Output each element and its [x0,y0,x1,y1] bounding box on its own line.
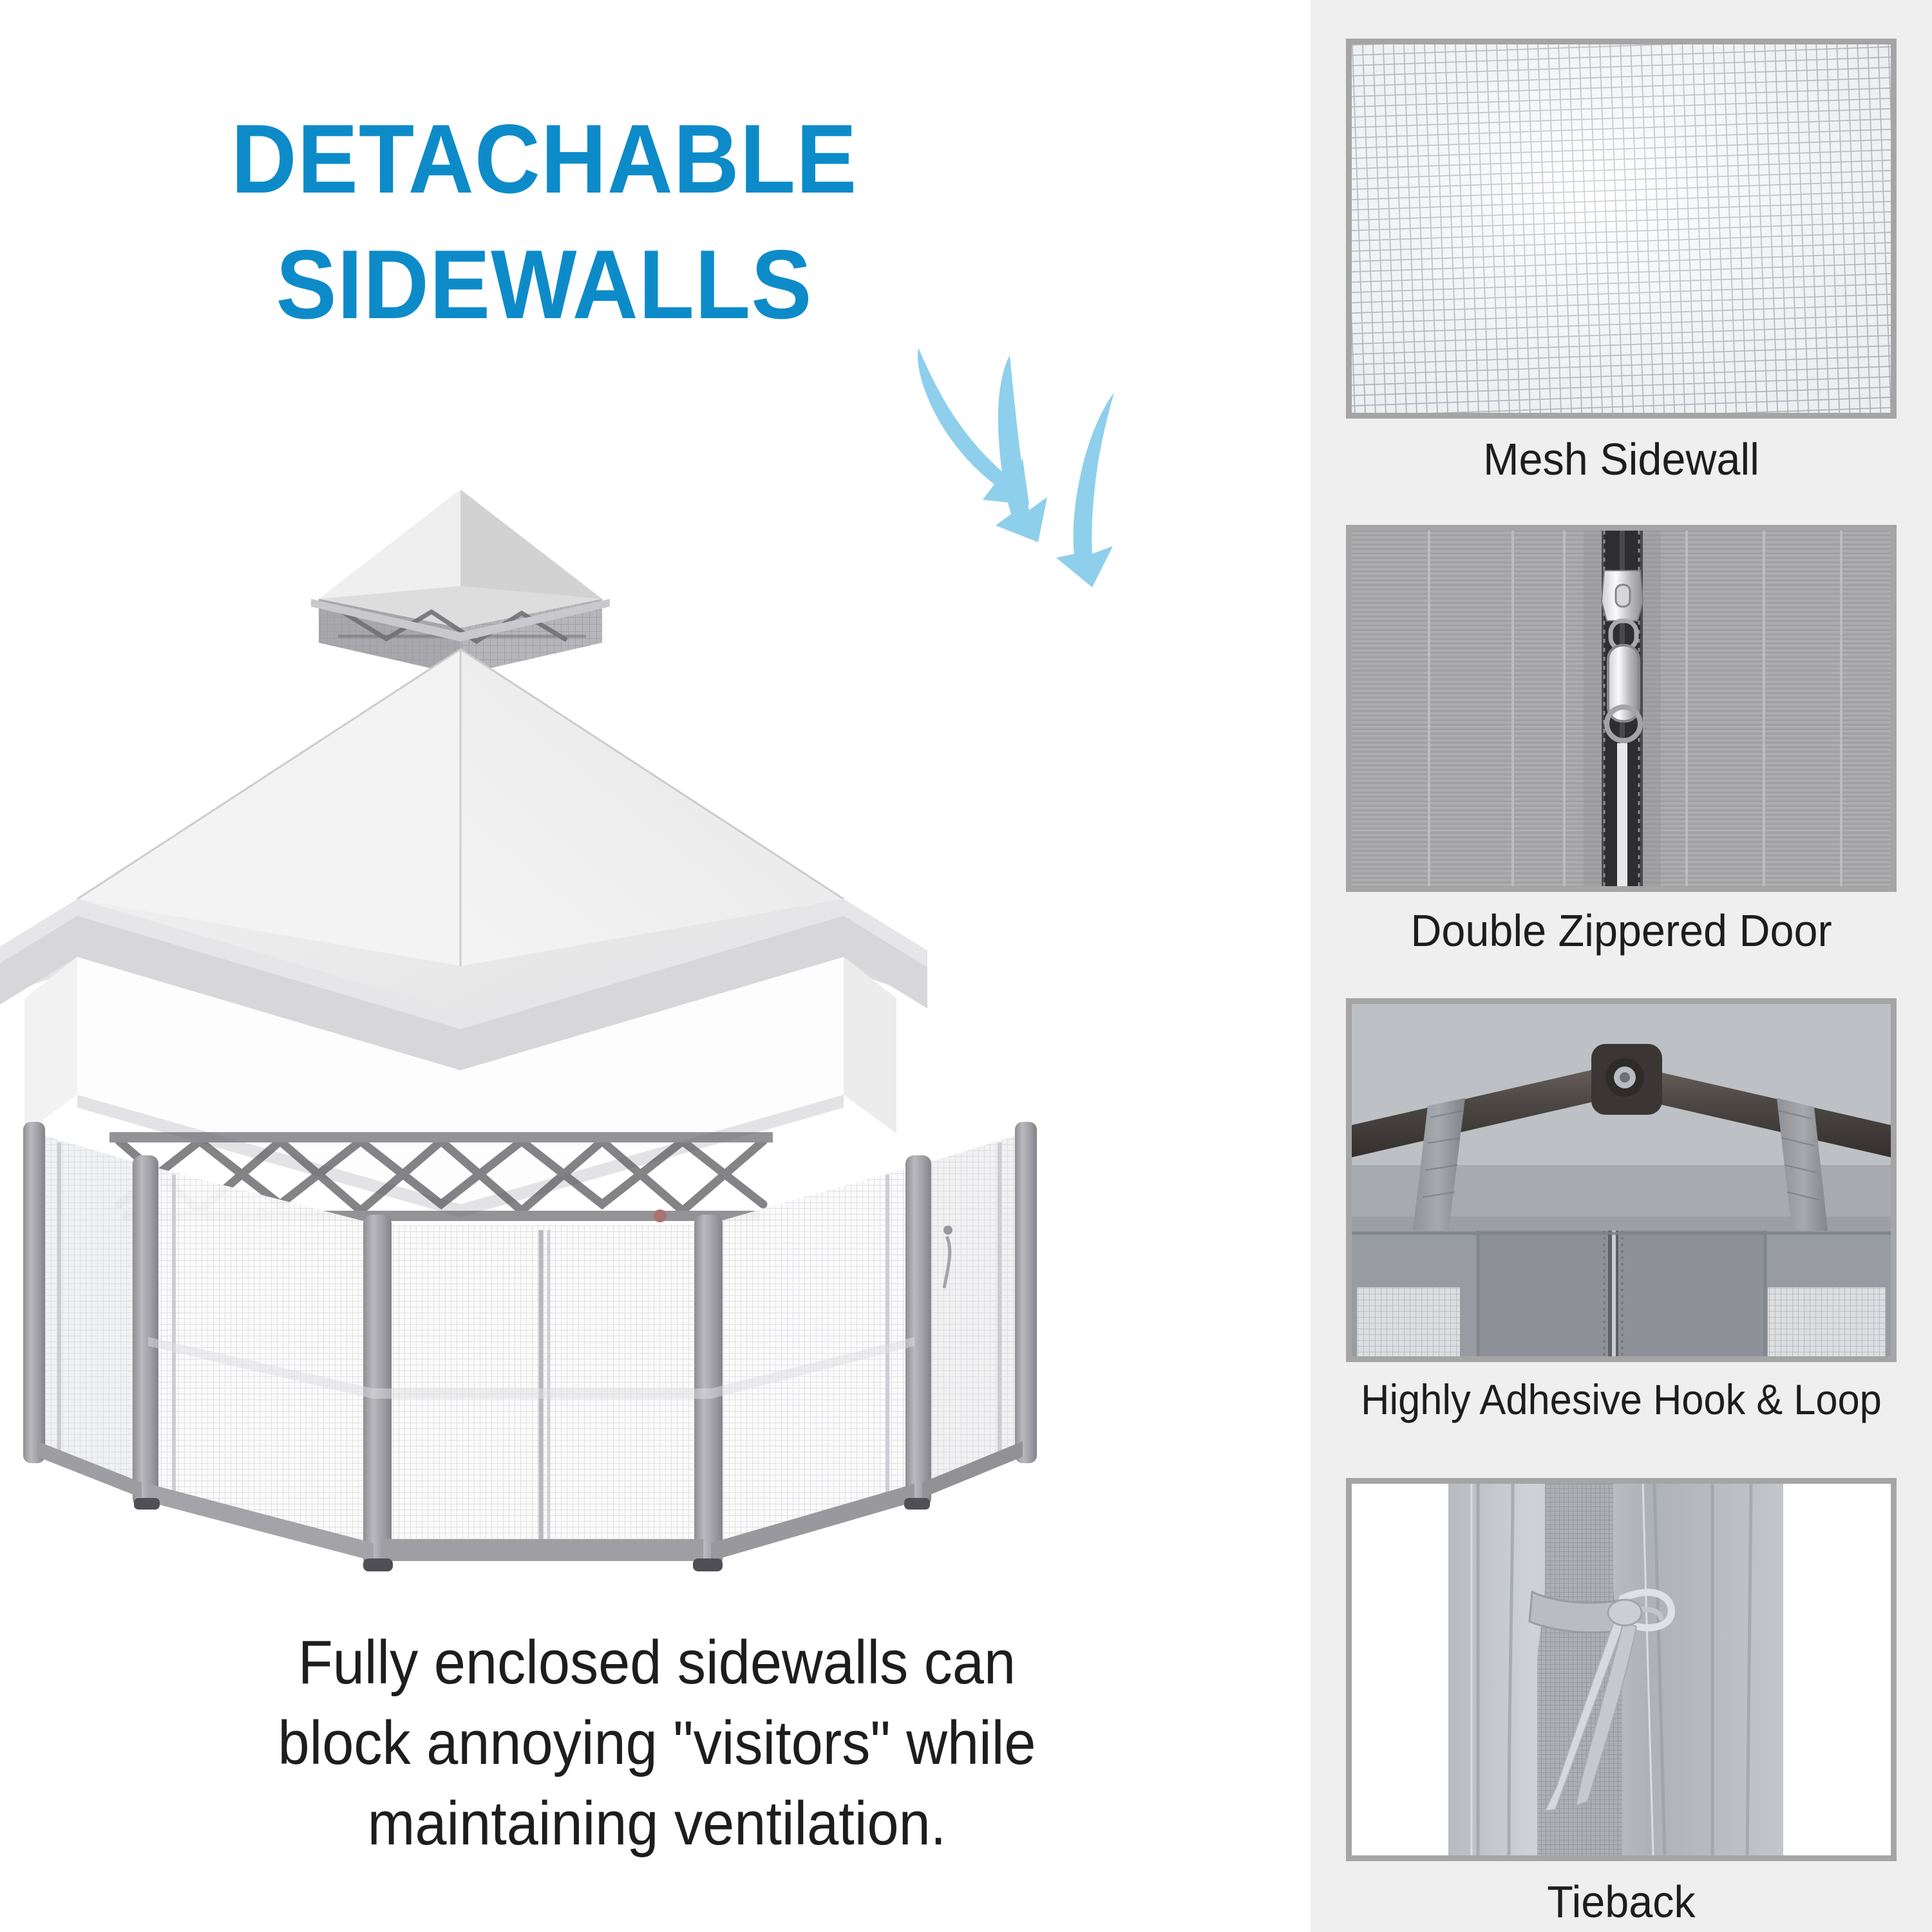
hook-and-loop-image [1346,998,1897,1362]
feature-zippered-door: Double Zippered Door [1311,489,1932,966]
tieback-label: Tieback [1326,1879,1917,1924]
caption-line-1: Fully enclosed sidewalls can [124,1623,1190,1703]
tieback-image [1346,1478,1897,1861]
feature-mesh-sidewall: Mesh Sidewall [1311,0,1932,489]
caption-line-3: maintaining ventilation. [124,1784,1190,1864]
hook-and-loop-label: Highly Adhesive Hook & Loop [1332,1378,1910,1421]
main-visual-area: DETACHABLE SIDEWALLS [0,0,1311,1932]
zippered-door-label: Double Zippered Door [1326,908,1917,953]
main-caption: Fully enclosed sidewalls can block annoy… [124,1623,1190,1864]
canopy-peak [311,489,610,675]
zippered-door-image [1346,525,1897,892]
caption-line-2: block annoying "visitors" while [124,1703,1190,1784]
gazebo-illustration [0,489,1311,1623]
page-title: DETACHABLE SIDEWALLS [110,97,979,347]
title-line-1: DETACHABLE [231,104,858,214]
infographic-page: DETACHABLE SIDEWALLS [0,0,1932,1932]
feature-sidebar: Mesh Sidewall [1311,0,1932,1932]
feature-tieback: Tieback [1311,1443,1932,1932]
mesh-sidewall-label: Mesh Sidewall [1326,437,1917,482]
title-line-2: SIDEWALLS [110,222,979,348]
mesh-sidewall-image [1346,39,1897,419]
feature-hook-and-loop: Highly Adhesive Hook & Loop [1311,966,1932,1443]
